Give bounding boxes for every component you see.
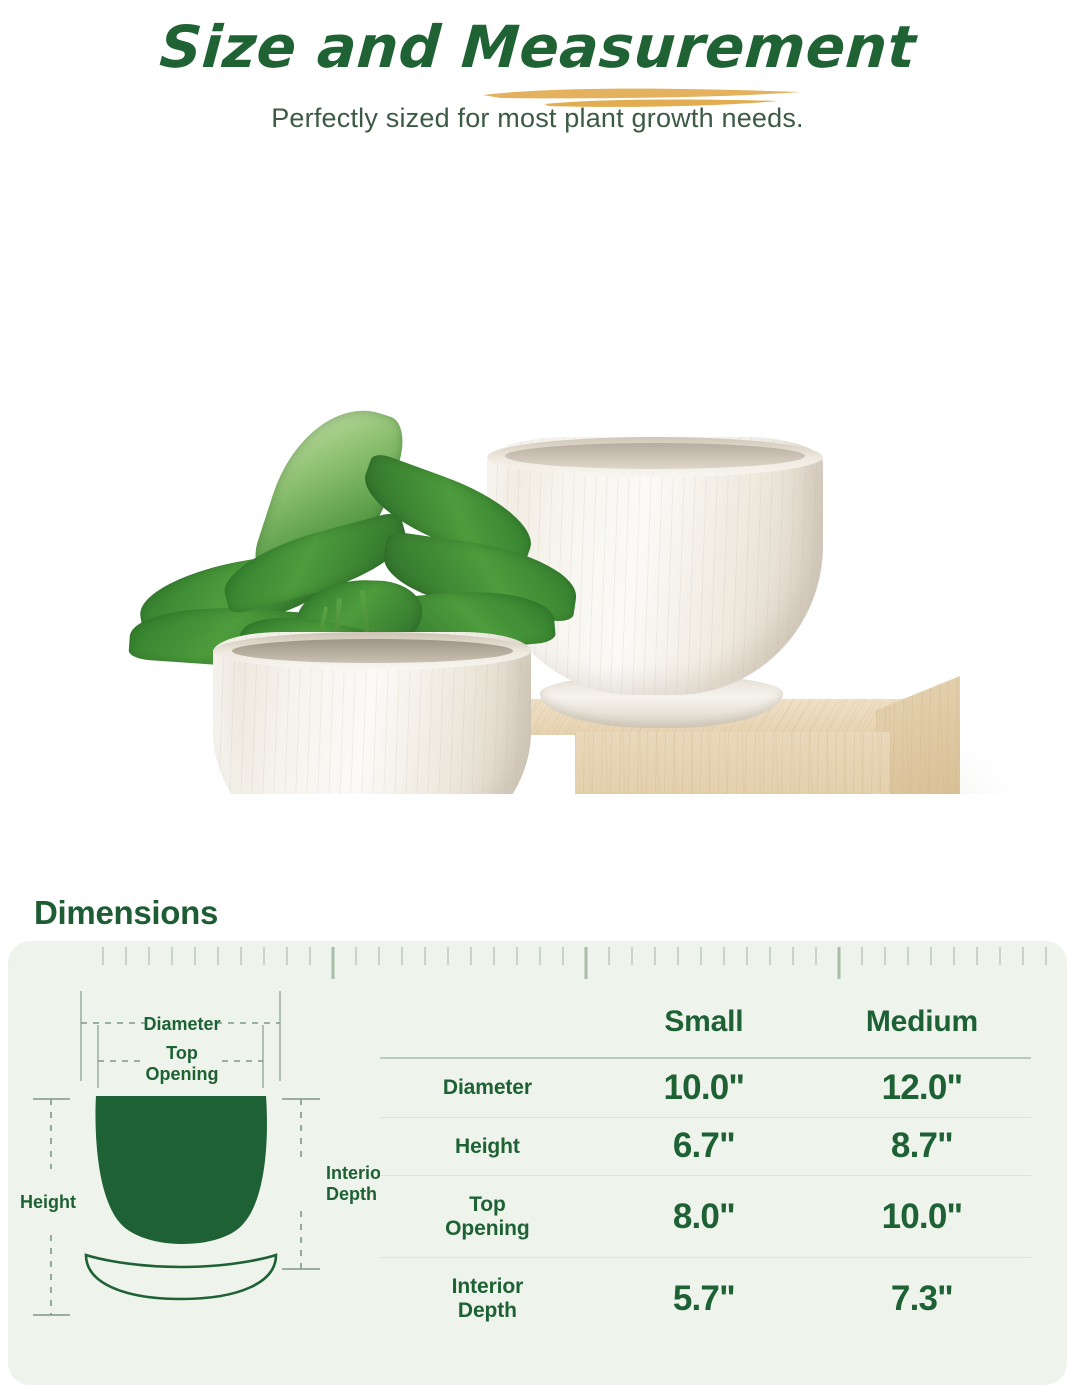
- page-subtitle: Perfectly sized for most plant growth ne…: [0, 103, 1075, 134]
- value-diameter-medium: 12.0": [813, 1058, 1031, 1117]
- plant-aglaonema: [120, 384, 590, 674]
- table-row: Height 6.7" 8.7": [380, 1117, 1031, 1176]
- column-header-small: Small: [595, 983, 813, 1058]
- value-height-medium: 8.7": [813, 1117, 1031, 1176]
- table-header-row: Small Medium: [380, 983, 1031, 1058]
- value-interior-depth-medium: 7.3": [813, 1258, 1031, 1340]
- diagram-label-top-opening-line1: Top: [166, 1043, 198, 1063]
- column-header-blank: [380, 983, 595, 1058]
- row-label-top-opening: Top Opening: [380, 1176, 595, 1258]
- diagram-label-interior-depth-line2: Depth: [326, 1184, 377, 1204]
- planter-small-opening: [232, 639, 513, 663]
- value-diameter-small: 10.0": [595, 1058, 813, 1117]
- diagram-label-top-opening-line2: Opening: [146, 1064, 219, 1084]
- row-label-interior-depth-line1: Interior: [452, 1275, 524, 1298]
- value-interior-depth-small: 5.7": [595, 1258, 813, 1340]
- row-label-interior-depth: Interior Depth: [380, 1258, 595, 1340]
- product-photo: [0, 154, 1075, 794]
- row-label-diameter: Diameter: [380, 1058, 595, 1117]
- header: Size and Measurement Perfectly sized for…: [0, 0, 1075, 134]
- value-height-small: 6.7": [595, 1117, 813, 1176]
- ruler-ticks: [8, 941, 1067, 983]
- row-label-interior-depth-line2: Depth: [458, 1299, 517, 1322]
- diagram-pot-shape: [96, 1096, 267, 1244]
- dimensions-heading: Dimensions: [34, 894, 218, 932]
- table-row: Diameter 10.0" 12.0": [380, 1058, 1031, 1117]
- page-title: Size and Measurement: [157, 14, 917, 81]
- column-header-medium: Medium: [813, 983, 1031, 1058]
- row-label-height: Height: [380, 1117, 595, 1176]
- pot-dimension-diagram: Diameter Top Opening: [8, 983, 380, 1385]
- table-row: Interior Depth 5.7" 7.3": [380, 1258, 1031, 1340]
- row-label-top-opening-line1: Top: [469, 1193, 506, 1216]
- diagram-label-interior-depth-line1: Interior: [326, 1163, 380, 1183]
- dimensions-table: Small Medium Diameter 10.0" 12.0" Height…: [380, 983, 1031, 1339]
- wood-block-rear-face: [575, 732, 890, 794]
- table-row: Top Opening 8.0" 10.0": [380, 1176, 1031, 1258]
- diagram-label-diameter: Diameter: [143, 1014, 220, 1034]
- dimensions-panel: Diameter Top Opening: [8, 941, 1067, 1385]
- row-label-top-opening-line2: Opening: [445, 1217, 529, 1240]
- value-top-opening-small: 8.0": [595, 1176, 813, 1258]
- diagram-label-height: Height: [20, 1192, 76, 1212]
- diagram-saucer-shape: [86, 1255, 276, 1299]
- value-top-opening-medium: 10.0": [813, 1176, 1031, 1258]
